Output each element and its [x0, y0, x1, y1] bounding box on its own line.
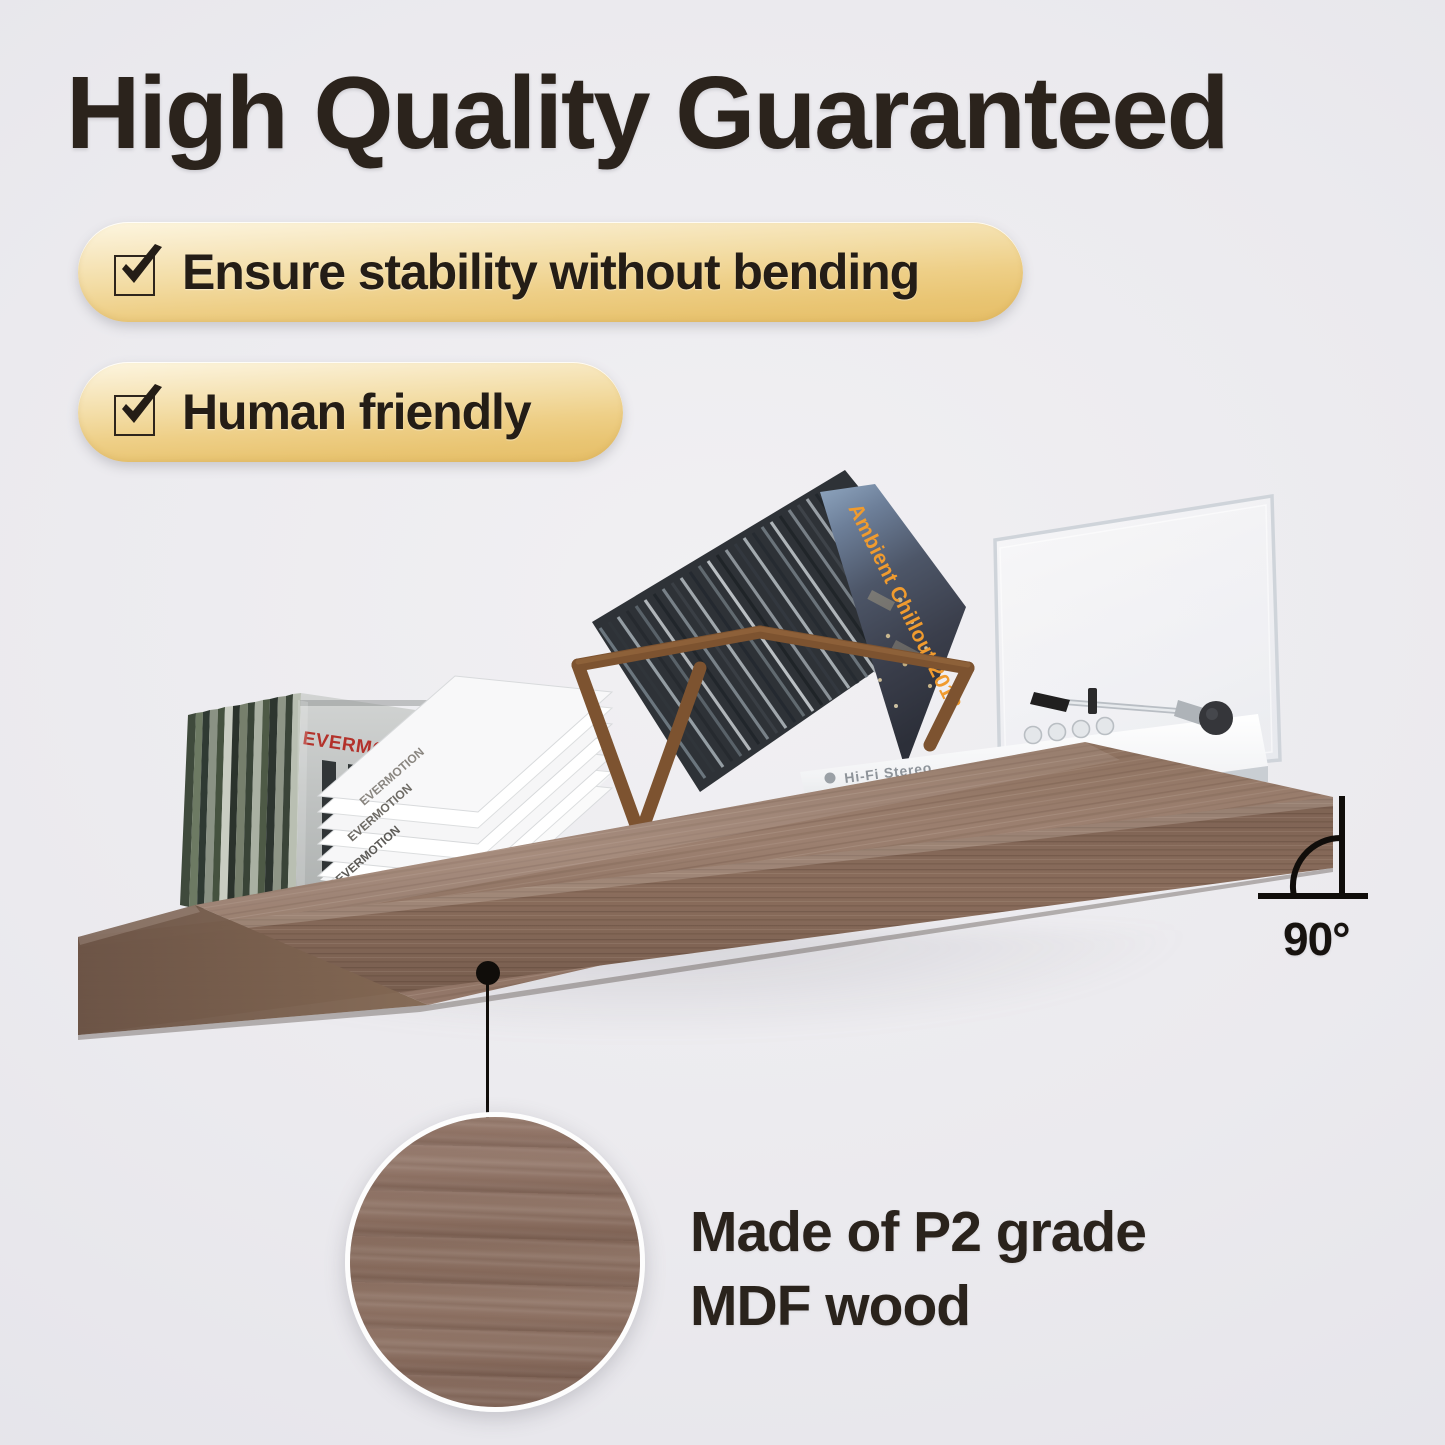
feature-pill-stability: Ensure stability without bending [78, 222, 1023, 322]
checkbox-checked-icon [112, 388, 160, 436]
tilted-record-stack: Ambient Chillout 2018 [592, 470, 966, 792]
page-title: High Quality Guaranteed [66, 58, 1266, 167]
wood-grain-closeup [345, 1112, 645, 1412]
checkbox-checked-icon [112, 248, 160, 296]
album-front-cover-title: Ambient Chillout 2018 [844, 500, 966, 713]
magazine-spine-label: EVERMOTION [333, 823, 403, 886]
record-rack: Ambient Chillout 2018 [578, 470, 968, 836]
turntable-dust-cover [995, 496, 1280, 786]
turntable: Hi-Fi Stereo [800, 496, 1280, 844]
callout-leader-line [486, 980, 489, 1120]
album-cover-title: EVERMOTION RECORDS [301, 728, 539, 783]
turntable-brand-label: Hi-Fi Stereo [843, 759, 932, 786]
right-angle-icon [1258, 796, 1378, 911]
vinyl-record-row-left: EVERMOTION RECORDS [180, 693, 539, 930]
svg-text:EVERMOTION: EVERMOTION [357, 745, 427, 808]
counterweight [1199, 701, 1233, 735]
svg-text:EVERMOTION: EVERMOTION [345, 781, 415, 844]
feature-pill-label: Human friendly [182, 383, 531, 441]
material-callout-text: Made of P2 grade MDF wood [690, 1195, 1146, 1343]
shelf-wall-shadow [78, 930, 1338, 1080]
material-callout-line1: Made of P2 grade [690, 1195, 1146, 1269]
feature-pill-human-friendly: Human friendly [78, 362, 623, 462]
turntable-controls [1025, 718, 1114, 744]
feature-graphic-canvas: High Quality Guaranteed Ensure stability… [0, 0, 1445, 1445]
feature-pill-label: Ensure stability without bending [182, 243, 919, 301]
material-callout-line2: MDF wood [690, 1269, 1146, 1343]
turntable-deck [800, 714, 1268, 828]
tonearm [1030, 688, 1233, 735]
angle-value-label: 90° [1283, 912, 1350, 966]
wooden-x-frame [578, 632, 968, 836]
magazine-stack: EVERMOTION EVERMOTION EVERMOTION [318, 676, 612, 908]
